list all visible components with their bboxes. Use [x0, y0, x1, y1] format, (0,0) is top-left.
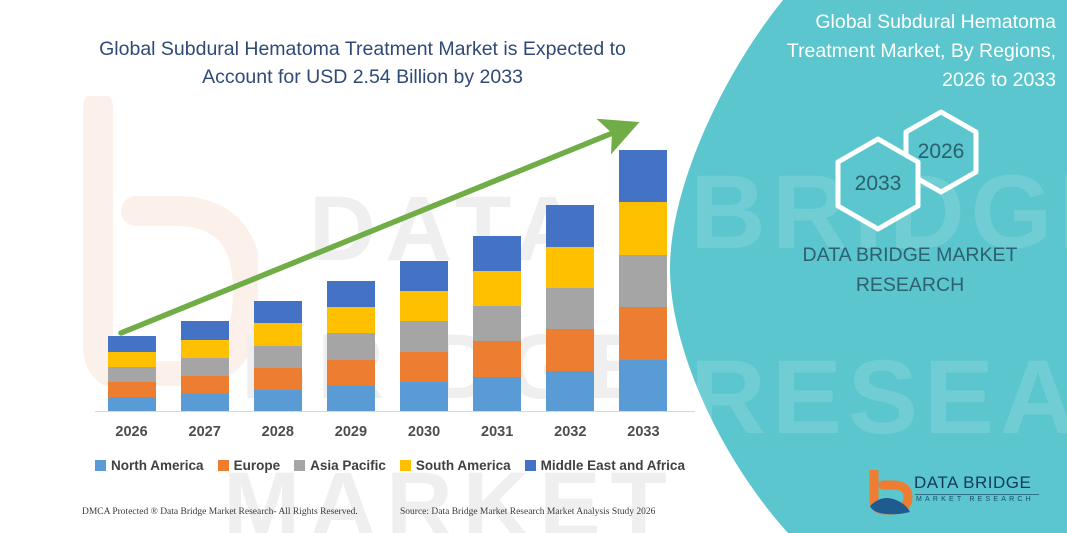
bar-segment-asia-pacific-2026 [108, 367, 156, 382]
x-axis-label-2031: 2031 [467, 424, 527, 440]
bar-segment-north-america-2027 [181, 394, 229, 412]
x-axis-label-2026: 2026 [102, 424, 162, 440]
legend-label: Asia Pacific [310, 458, 386, 473]
legend-item-asia-pacific[interactable]: Asia Pacific [294, 458, 386, 473]
legend-item-south-america[interactable]: South America [400, 458, 511, 473]
footer-source: Source: Data Bridge Market Research Mark… [400, 507, 655, 517]
legend-swatch-icon [95, 460, 106, 471]
bar-segment-north-america-2026 [108, 397, 156, 412]
legend-swatch-icon [218, 460, 229, 471]
x-axis-label-2027: 2027 [175, 424, 235, 440]
chart-legend: North AmericaEuropeAsia PacificSouth Ame… [95, 455, 685, 475]
bar-segment-north-america-2032 [546, 371, 594, 412]
chart-title: Global Subdural Hematoma Treatment Marke… [75, 35, 650, 91]
legend-swatch-icon [525, 460, 536, 471]
bar-segment-north-america-2031 [473, 377, 521, 412]
legend-swatch-icon [400, 460, 411, 471]
bar-segment-asia-pacific-2027 [181, 358, 229, 376]
x-axis-line [95, 411, 695, 412]
x-axis-label-2029: 2029 [321, 424, 381, 440]
x-axis-label-2033: 2033 [613, 424, 673, 440]
bar-segment-north-america-2030 [400, 382, 448, 412]
legend-label: Middle East and Africa [541, 458, 685, 473]
legend-item-middle-east-and-africa[interactable]: Middle East and Africa [525, 458, 685, 473]
hexagon-2033: 2033 [832, 135, 924, 233]
hexagon-2033-label: 2033 [855, 172, 902, 196]
bar-segment-europe-2029 [327, 360, 375, 386]
legend-swatch-icon [294, 460, 305, 471]
brand-divider [915, 494, 1039, 495]
brand-mark-icon [866, 470, 914, 516]
x-axis-label-2030: 2030 [394, 424, 454, 440]
slide-canvas: DATA BRIDGE MARKET RESEARCH BRIDGE RESEA… [0, 0, 1067, 533]
bar-segment-europe-2030 [400, 352, 448, 382]
x-axis-labels: 20262027202820292030203120322033 [95, 424, 680, 446]
bar-segment-north-america-2028 [254, 390, 302, 412]
panel-brand-name: DATA BRIDGE MARKET RESEARCH [760, 240, 1060, 300]
bar-segment-north-america-2033 [619, 360, 667, 412]
brand-line1: DATA BRIDGE [914, 473, 1031, 493]
x-axis-label-2032: 2032 [540, 424, 600, 440]
legend-label: South America [416, 458, 511, 473]
legend-label: North America [111, 458, 204, 473]
legend-item-north-america[interactable]: North America [95, 458, 204, 473]
brand-line2: MARKET RESEARCH [916, 496, 1034, 503]
bar-segment-europe-2028 [254, 368, 302, 390]
panel-title: Global Subdural Hematoma Treatment Marke… [766, 8, 1056, 95]
bar-segment-europe-2026 [108, 382, 156, 397]
bar-segment-north-america-2029 [327, 386, 375, 412]
brand-logo: DATA BRIDGE MARKET RESEARCH [866, 470, 1046, 518]
legend-label: Europe [234, 458, 281, 473]
legend-item-europe[interactable]: Europe [218, 458, 281, 473]
bar-segment-europe-2027 [181, 376, 229, 394]
footer-copyright: DMCA Protected ® Data Bridge Market Rese… [82, 507, 358, 517]
hexagon-2026-label: 2026 [918, 140, 965, 164]
growth-arrow [95, 105, 655, 355]
x-axis-label-2028: 2028 [248, 424, 308, 440]
